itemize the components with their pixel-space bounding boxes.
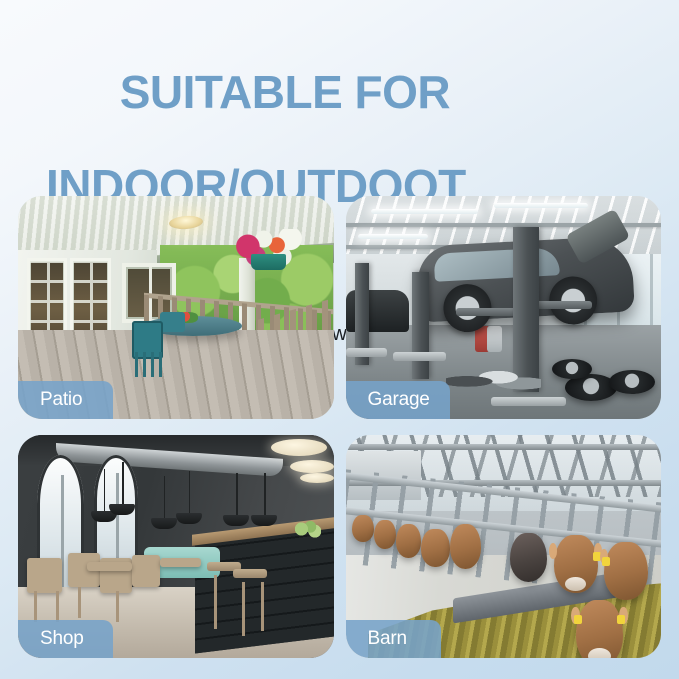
headline-line-1: SUITABLE FOR [120,66,450,118]
cow-snout [565,577,586,591]
lift-base-plate [491,397,567,406]
suspension-parts [446,366,541,395]
cow-ear-tag [617,615,625,624]
cow [352,515,374,542]
use-case-card-garage: Garage [346,196,662,419]
card-label-garage: Garage [346,381,450,419]
fluorescent-tube-light [358,234,427,239]
promo-image: SUITABLE FOR INDOOR/OUTDOOT Easy to inst… [0,0,679,679]
car-windows [434,246,560,281]
roof-beam [346,444,662,450]
cow-ear-tag [602,557,610,566]
bar-stool-seat [233,569,267,578]
cow [604,542,648,600]
cafe-chair [132,555,160,586]
lift-base-plate [393,352,447,361]
card-label-shop: Shop [18,620,113,658]
cow [396,524,421,557]
round-ceiling-light [290,460,334,473]
use-case-grid: Patio [18,196,661,658]
cafe-chair [27,558,62,594]
chair-leg [78,587,81,618]
loose-tire [552,359,592,379]
cow [450,524,482,569]
stool-leg [214,575,217,629]
cow-snout [588,648,611,658]
card-label-patio: Patio [18,381,113,419]
chair-leg [116,591,119,622]
cow-ear [549,543,557,558]
chair-leg [56,591,59,622]
cow [554,535,598,593]
pendant-lamp [176,513,202,524]
cow-ear-tag [574,615,582,624]
cow [421,529,449,567]
cow-foreground [576,600,623,658]
use-case-card-patio: Patio [18,196,334,419]
chair-leg [34,591,37,622]
patio-chair-legs [135,352,163,377]
lift-post-secondary [412,272,429,379]
fluorescent-tube-light [494,203,589,208]
counter-plant [293,520,321,538]
use-case-card-barn: Barn [346,435,662,658]
oil-drum-white [487,326,502,352]
flower-pot [251,254,286,270]
cow-dark [510,533,548,582]
stool-leg [242,582,245,636]
cafe-table [160,558,201,567]
lift-base-plate [346,348,387,357]
cow [374,520,396,549]
card-label-barn: Barn [346,620,441,658]
stool-leg [261,582,264,631]
cafe-table [87,562,131,571]
round-ceiling-light [300,473,334,483]
fluorescent-tube-light [371,209,478,214]
use-case-card-shop: Shop [18,435,334,658]
pendant-lamp [151,518,177,529]
patio-chair-back [160,312,185,332]
